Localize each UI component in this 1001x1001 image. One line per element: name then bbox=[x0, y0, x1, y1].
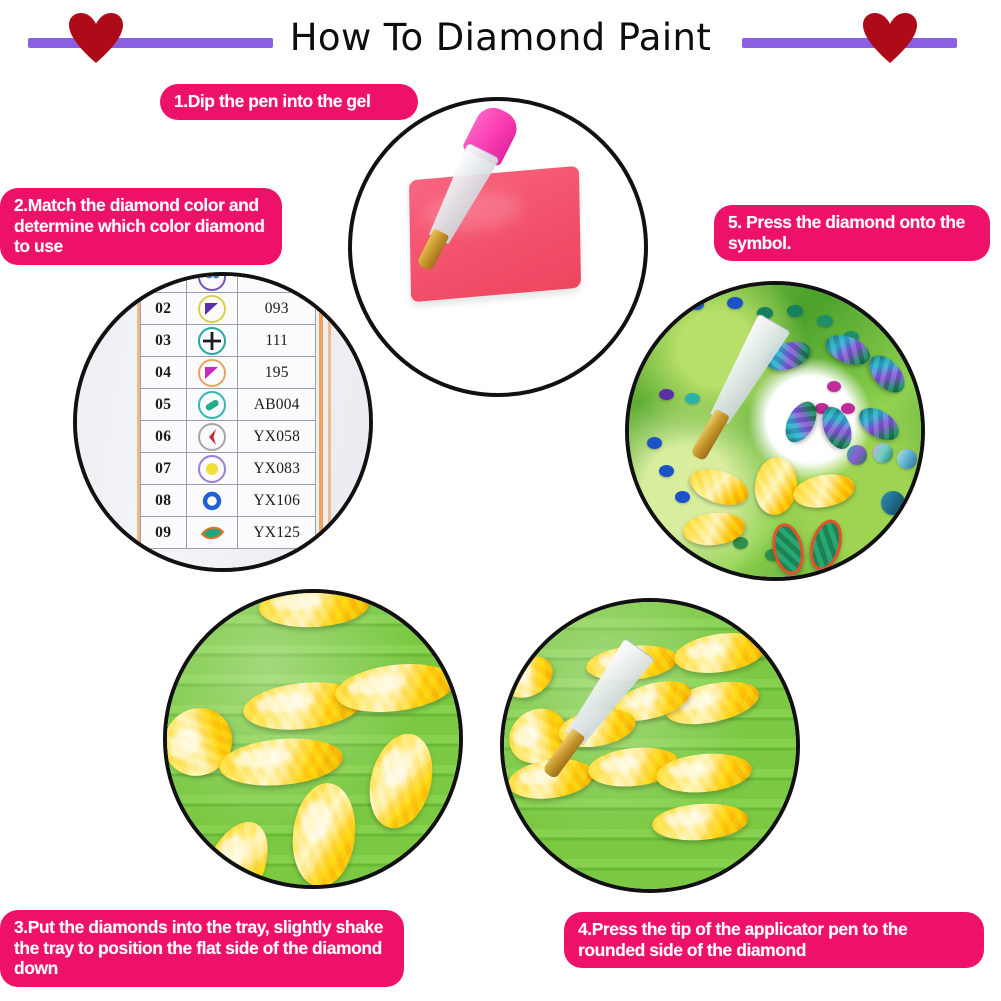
color-chart-code: YX058 bbox=[238, 421, 316, 453]
pen-tip bbox=[416, 228, 449, 271]
filled-dot-symbol bbox=[198, 455, 226, 483]
color-chart-code: 195 bbox=[238, 357, 316, 389]
color-chart-code: 028 bbox=[238, 272, 316, 293]
color-chart-symbol-cell bbox=[186, 293, 238, 325]
color-chart-symbol-cell bbox=[186, 357, 238, 389]
step-3-photo-circle bbox=[163, 589, 463, 889]
leaf-symbol bbox=[200, 521, 224, 545]
color-chart-number: 05 bbox=[141, 389, 187, 421]
canvas-symbol-dot bbox=[659, 465, 674, 477]
step-1-photo-circle bbox=[348, 97, 648, 397]
color-chart-symbol-cell bbox=[186, 389, 238, 421]
step-label-5: 5. Press the diamond onto the symbol. bbox=[714, 205, 990, 261]
ring-symbol bbox=[200, 489, 224, 513]
triangle-symbol bbox=[198, 295, 226, 323]
diamonds-in-tray-photo bbox=[167, 593, 459, 885]
color-chart-row: 03111 bbox=[141, 325, 316, 357]
color-chart-number: 03 bbox=[141, 325, 187, 357]
step-label-3: 3.Put the diamonds into the tray, slight… bbox=[0, 910, 404, 987]
two-dots-circle-symbol bbox=[198, 272, 226, 291]
round-gem bbox=[873, 443, 893, 463]
plus-symbol bbox=[198, 327, 226, 355]
step-4-photo-circle bbox=[500, 598, 800, 893]
canvas-symbol-dot bbox=[727, 297, 743, 309]
color-chart-symbol-cell bbox=[186, 421, 238, 453]
color-chart-row: 02093 bbox=[141, 293, 316, 325]
color-chart-code: AB004 bbox=[238, 389, 316, 421]
canvas-symbol-dot bbox=[787, 305, 803, 317]
page-title: How To Diamond Paint bbox=[0, 16, 1001, 59]
step-5-photo-circle bbox=[625, 281, 925, 581]
canvas-symbol-dot bbox=[827, 381, 841, 392]
color-code-table: 0102802093031110419505AB00406YX05807YX08… bbox=[140, 272, 316, 549]
chevron-left-symbol bbox=[198, 423, 226, 451]
color-chart-symbol-cell bbox=[186, 485, 238, 517]
color-chart-code: 093 bbox=[238, 293, 316, 325]
triangle-symbol bbox=[198, 359, 226, 387]
color-chart-number: 01 bbox=[141, 272, 187, 293]
canvas-symbol-dot bbox=[647, 437, 662, 449]
chart-margin-line bbox=[319, 272, 323, 572]
color-chart-row: 01028 bbox=[141, 272, 316, 293]
capsule-symbol bbox=[198, 391, 226, 419]
color-chart-row: 09YX125 bbox=[141, 517, 316, 549]
canvas-symbol-dot bbox=[817, 315, 833, 327]
color-chart-number: 06 bbox=[141, 421, 187, 453]
round-gem bbox=[897, 449, 917, 469]
placing-diamond-on-canvas-photo bbox=[629, 285, 921, 577]
color-chart-number: 08 bbox=[141, 485, 187, 517]
color-chart-code: YX083 bbox=[238, 453, 316, 485]
canvas-symbol-dot bbox=[685, 393, 700, 404]
color-chart-symbol-cell bbox=[186, 453, 238, 485]
canvas-symbol-dot bbox=[689, 299, 704, 310]
step-label-4: 4.Press the tip of the applicator pen to… bbox=[564, 912, 984, 968]
pen-dipped-in-gel-photo bbox=[352, 101, 644, 393]
chart-margin-line bbox=[328, 272, 331, 572]
step-label-2: 2.Match the diamond color and determine … bbox=[0, 188, 282, 265]
color-chart-number: 07 bbox=[141, 453, 187, 485]
color-chart-symbol-cell bbox=[186, 325, 238, 357]
color-chart-code: YX125 bbox=[238, 517, 316, 549]
color-chart-number: 09 bbox=[141, 517, 187, 549]
color-chart-row: 05AB004 bbox=[141, 389, 316, 421]
color-chart-photo: 0102802093031110419505AB00406YX05807YX08… bbox=[77, 276, 369, 568]
page-header: How To Diamond Paint bbox=[0, 0, 1001, 80]
round-gem bbox=[847, 445, 867, 465]
color-chart-row: 08YX106 bbox=[141, 485, 316, 517]
canvas-symbol-dot bbox=[671, 303, 686, 314]
color-chart-number: 02 bbox=[141, 293, 187, 325]
color-chart-row: 06YX058 bbox=[141, 421, 316, 453]
color-chart-number: 04 bbox=[141, 357, 187, 389]
color-chart-row: 07YX083 bbox=[141, 453, 316, 485]
canvas-symbol-dot bbox=[659, 389, 674, 400]
round-gem bbox=[881, 491, 905, 515]
pen-picking-up-diamond-photo bbox=[504, 602, 796, 889]
color-chart-symbol-cell bbox=[186, 517, 238, 549]
color-chart-symbol-cell bbox=[186, 272, 238, 293]
canvas-symbol-dot bbox=[675, 491, 690, 503]
step-2-photo-circle: 0102802093031110419505AB00406YX05807YX08… bbox=[73, 272, 373, 572]
color-chart-row: 04195 bbox=[141, 357, 316, 389]
color-chart-code: 111 bbox=[238, 325, 316, 357]
color-chart-code: YX106 bbox=[238, 485, 316, 517]
